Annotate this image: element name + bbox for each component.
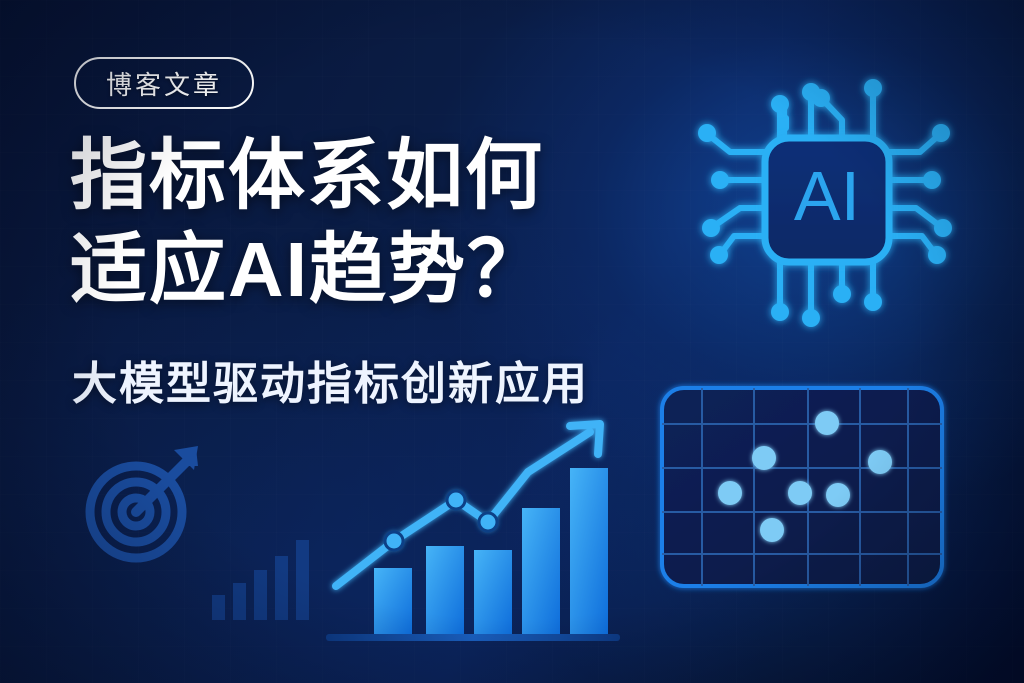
headline-line-2: 适应AI趋势？: [70, 232, 546, 309]
chart-baseline: [326, 634, 620, 641]
trend-line: [336, 424, 600, 586]
headline-line-1: 指标体系如何: [70, 138, 544, 215]
chip-ai-label: AI: [794, 157, 860, 235]
growth-bar-chart: [322, 412, 624, 650]
subtitle: 大模型驱动指标创新应用: [72, 347, 589, 412]
target-arrow-icon: [78, 442, 204, 568]
category-badge[interactable]: 博客文章: [74, 57, 254, 109]
bars: [374, 468, 608, 634]
mini-bar-chart-decoration: [208, 528, 318, 620]
data-scatter-panel: [652, 378, 952, 596]
category-badge-label: 博客文章: [106, 65, 222, 102]
banner-canvas: 博客文章 指标体系如何 适应AI趋势？ 大模型驱动指标创新应用: [0, 0, 1024, 683]
ai-chip-icon: AI: [672, 48, 964, 348]
